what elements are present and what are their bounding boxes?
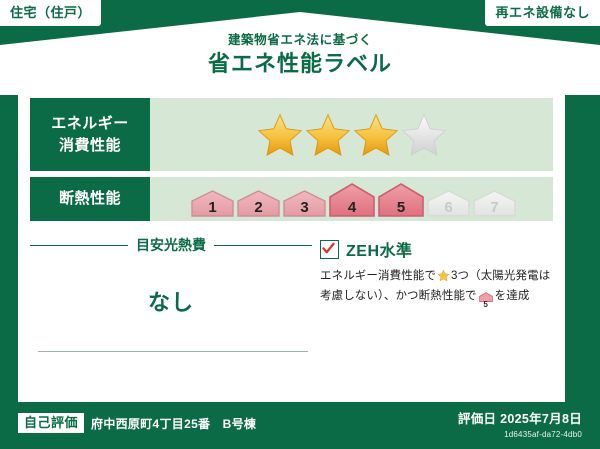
insulation-level-number: 5 xyxy=(377,200,425,215)
star-filled-icon xyxy=(304,111,352,159)
zeh-desc-starcount: 3つ（太陽光発電 xyxy=(451,270,539,282)
insulation-level-2: 2 xyxy=(236,188,281,218)
energy-performance-value xyxy=(150,98,553,171)
inline-house-badge: 5 xyxy=(479,290,493,310)
property-address: 府中西原町4丁目25番 B号棟 xyxy=(91,415,256,432)
insulation-performance-row: 断熱性能 1 2 xyxy=(30,177,553,221)
heading-rule-right xyxy=(214,245,312,246)
zeh-title: ZEH水準 xyxy=(346,237,413,261)
insulation-level-4: 4 xyxy=(328,181,376,218)
page-title: 建築物省エネ法に基づく 省エネ性能ラベル xyxy=(0,34,600,76)
insulation-level-7: 7 xyxy=(472,188,517,218)
energy-label-line2: 消費性能 xyxy=(59,135,121,157)
insulation-level-number: 4 xyxy=(328,200,376,215)
energy-performance-label: エネルギー 消費性能 xyxy=(30,98,150,171)
insulation-performance-value: 1 2 3 xyxy=(150,177,553,221)
heading-rule-left xyxy=(30,245,128,246)
utility-cost-underline xyxy=(38,351,308,352)
utility-cost-value: なし xyxy=(30,285,312,317)
evaluation-date: 評価日 2025年7月8日 xyxy=(458,412,582,426)
footer: 自己評価 府中西原町4丁目25番 B号棟 評価日 2025年7月8日 1d643… xyxy=(18,403,582,443)
energy-label-line1: エネルギー xyxy=(51,113,129,135)
insulation-level-number: 7 xyxy=(472,200,517,215)
zeh-description: エネルギー消費性能で 3つ（太陽光発電は考慮しない）、かつ断熱性能で 5 を達成 xyxy=(320,266,553,310)
insulation-level-6: 6 xyxy=(426,188,471,218)
badge-building-type: 住宅（住戸） xyxy=(0,0,101,26)
insulation-performance-label: 断熱性能 xyxy=(30,177,150,221)
zeh-desc-part1: エネルギー消費性能で xyxy=(320,270,436,282)
badge-renewable-energy: 再エネ設備なし xyxy=(485,0,600,26)
main-panel: エネルギー 消費性能 xyxy=(18,88,565,402)
insulation-level-3: 3 xyxy=(282,188,327,218)
zeh-section: ZEH水準 エネルギー消費性能で 3つ（太陽光発電は考慮しない）、かつ断熱性能で… xyxy=(312,231,553,403)
title-subtitle: 建築物省エネ法に基づく xyxy=(0,34,600,48)
title-main: 省エネ性能ラベル xyxy=(0,52,600,76)
lower-section: 目安光熱費 なし ZEH水準 エネルギー消費性能で 3つ（太陽光発電は考慮しない… xyxy=(30,231,553,403)
energy-performance-row: エネルギー 消費性能 xyxy=(30,88,553,171)
self-evaluation-badge: 自己評価 xyxy=(18,413,84,433)
inline-house-number: 5 xyxy=(479,301,493,309)
zeh-header: ZEH水準 xyxy=(320,237,553,261)
utility-cost-title: 目安光熱費 xyxy=(136,235,206,255)
inline-star-icon xyxy=(437,269,450,282)
check-icon xyxy=(322,242,335,255)
star-rating xyxy=(256,111,448,159)
star-filled-icon xyxy=(352,111,400,159)
insulation-level-number: 3 xyxy=(282,200,327,215)
footer-right-block: 評価日 2025年7月8日 1d6435af-da72-4db0 xyxy=(458,408,582,439)
insulation-level-number: 6 xyxy=(426,200,471,215)
zeh-checkbox[interactable] xyxy=(320,240,339,259)
star-filled-icon xyxy=(256,111,304,159)
utility-cost-heading: 目安光熱費 xyxy=(30,235,312,255)
zeh-desc-part3: を達成 xyxy=(495,290,530,302)
insulation-level-scale: 1 2 3 xyxy=(186,181,517,218)
star-empty-icon xyxy=(400,111,448,159)
insulation-level-number: 2 xyxy=(236,200,281,215)
insulation-level-5: 5 xyxy=(377,181,425,218)
insulation-level-1: 1 xyxy=(190,188,235,218)
insulation-level-number: 1 xyxy=(190,200,235,215)
utility-cost-section: 目安光熱費 なし xyxy=(30,231,312,403)
evaluation-id: 1d6435af-da72-4db0 xyxy=(458,430,582,439)
